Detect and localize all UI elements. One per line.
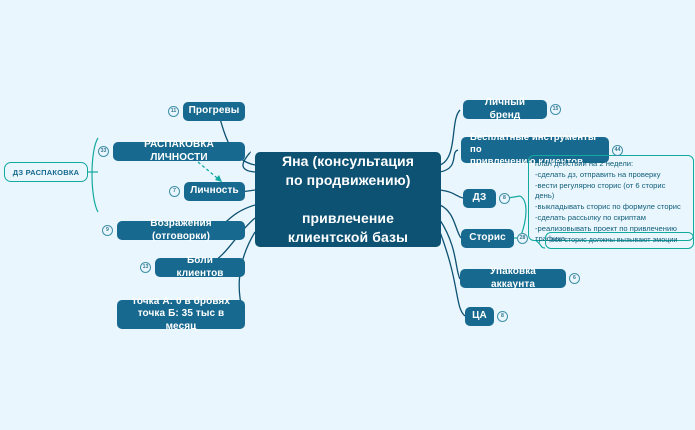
badge-boli-klientov[interactable]: 13 <box>140 262 151 273</box>
node-progrevy[interactable]: Прогревы <box>183 102 245 121</box>
node-lichnost[interactable]: Личность <box>184 182 245 201</box>
badge-lichnyy-brend[interactable]: 15 <box>550 104 561 115</box>
badge-upakovka-akkaunta[interactable]: 6 <box>569 273 580 284</box>
badge-dz[interactable]: 8 <box>499 193 510 204</box>
node-vozrazheniya[interactable]: Возражения (отговорки) <box>117 221 245 240</box>
node-tochka-ab[interactable]: точка А: 0 в бровях точка Б: 35 тыс в ме… <box>117 300 245 329</box>
mindmap-canvas: Яна (консультация по продвижению) привле… <box>0 0 695 430</box>
textbox-plan-deystviy[interactable]: план действий на 2 недели: -сделать дз, … <box>528 155 694 241</box>
node-boli-klientov[interactable]: Боли клиентов <box>155 258 245 277</box>
node-upakovka-akkaunta[interactable]: Упаковка аккаунта <box>460 269 566 288</box>
badge-tsa[interactable]: 8 <box>497 311 508 322</box>
node-lichnyy-brend[interactable]: Личный бренд <box>463 100 547 119</box>
center-node[interactable]: Яна (консультация по продвижению) привле… <box>255 152 441 247</box>
badge-lichnost[interactable]: 7 <box>169 186 180 197</box>
badge-besplatnye-instrumenty[interactable]: 44 <box>612 145 623 156</box>
node-tsa[interactable]: ЦА <box>465 307 494 326</box>
badge-raspakovka-lichnosti[interactable]: 33 <box>98 146 109 157</box>
badge-vozrazheniya[interactable]: 9 <box>102 225 113 236</box>
badge-progrevy[interactable]: 11 <box>168 106 179 117</box>
badge-storis[interactable]: 28 <box>517 233 528 244</box>
textbox-storis-emotsii[interactable]: все сторис должны вызывают эмоции <box>545 232 694 249</box>
node-storis[interactable]: Сторис <box>461 229 514 248</box>
leaf-box-dz-raspakovka[interactable]: ДЗ РАСПАКОВКА <box>4 162 88 182</box>
node-dz[interactable]: ДЗ <box>463 189 496 208</box>
node-raspakovka-lichnosti[interactable]: РАСПАКОВКА ЛИЧНОСТИ <box>113 142 245 161</box>
